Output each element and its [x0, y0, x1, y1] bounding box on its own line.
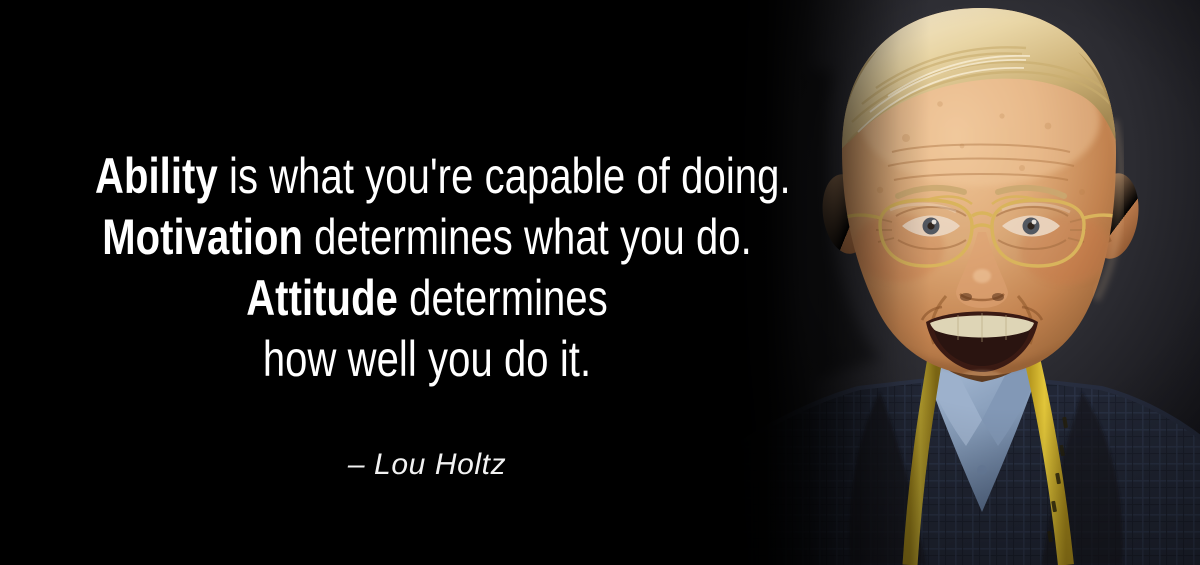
quote-line-4-rest: how well you do it.	[263, 331, 591, 387]
quote-line-2-rest: determines what you do.	[303, 209, 752, 265]
shirt-button	[977, 465, 987, 475]
quote-line-1-rest: is what you're capable of doing.	[218, 148, 791, 204]
quote-line-3-rest: determines	[398, 270, 608, 326]
quote-attribution: – Lou Holtz	[12, 448, 842, 482]
quote-line-2: Motivation determines what you do.	[95, 207, 759, 268]
quote-line-1: Ability is what you're capable of doing.	[95, 146, 759, 207]
quote-image-canvas: Ability is what you're capable of doing.…	[0, 0, 1200, 565]
quote-emphasis-motivation: Motivation	[102, 209, 303, 265]
quote-emphasis-ability: Ability	[95, 148, 218, 204]
quote-emphasis-attitude: Attitude	[246, 270, 398, 326]
quote-line-3: Attitude determines	[95, 268, 759, 329]
quote-text-block: Ability is what you're capable of doing.…	[12, 146, 842, 390]
quote-line-4: how well you do it.	[95, 329, 759, 390]
